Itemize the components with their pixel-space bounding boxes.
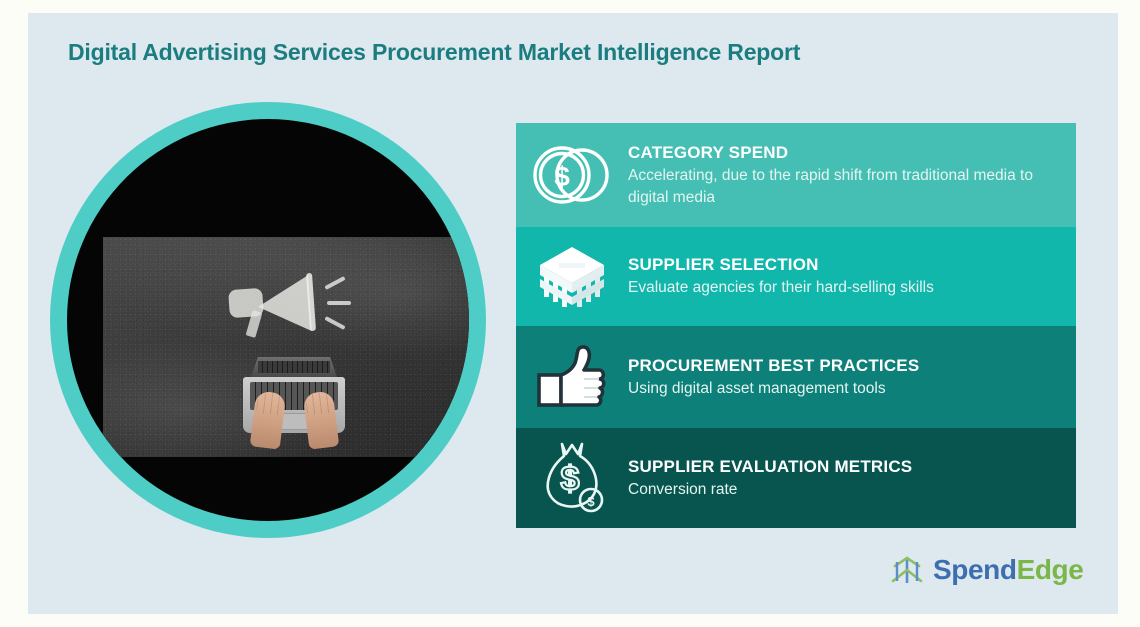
left-hand — [250, 390, 287, 449]
band-description: Accelerating, due to the rapid shift fro… — [628, 165, 1064, 208]
hero-inner-disc — [67, 119, 469, 521]
highlight-row-supplier-evaluation-metrics: $ $ SUPPLIER EVALUATION METRICS Conversi… — [516, 428, 1076, 528]
svg-text:$: $ — [561, 460, 580, 498]
sound-wave-icon — [324, 316, 345, 330]
laptop-screen — [258, 361, 330, 373]
coins-icon: $ — [516, 123, 628, 227]
circular-hero-image — [50, 102, 486, 538]
spendedge-logo: SpendEdge — [890, 554, 1083, 586]
svg-text:$: $ — [587, 494, 595, 509]
band-title: SUPPLIER EVALUATION METRICS — [628, 456, 1064, 477]
band-description: Evaluate agencies for their hard-selling… — [628, 277, 1064, 298]
laptop-megaphone-photo — [103, 237, 469, 457]
band-title: CATEGORY SPEND — [628, 142, 1064, 163]
band-text-block: CATEGORY SPEND Accelerating, due to the … — [628, 142, 1076, 208]
logo-text-edge: Edge — [1017, 554, 1084, 585]
band-text-block: PROCUREMENT BEST PRACTICES Using digital… — [628, 355, 1076, 400]
band-title: SUPPLIER SELECTION — [628, 254, 1064, 275]
band-description: Using digital asset management tools — [628, 378, 1064, 399]
highlight-row-procurement-best-practices: PROCUREMENT BEST PRACTICES Using digital… — [516, 326, 1076, 428]
svg-text:$: $ — [554, 161, 570, 192]
logo-wordmark: SpendEdge — [933, 556, 1083, 584]
sound-wave-icon — [324, 276, 345, 290]
band-title: PROCUREMENT BEST PRACTICES — [628, 355, 1064, 376]
highlight-row-supplier-selection: SUPPLIER SELECTION Evaluate agencies for… — [516, 227, 1076, 326]
tri-arrow-logo-icon — [890, 554, 924, 586]
bank-building-icon — [516, 227, 628, 326]
sound-wave-icon — [327, 301, 351, 305]
highlight-row-category-spend: $ CATEGORY SPEND Accelerating, due to th… — [516, 123, 1076, 227]
megaphone-cone-shape — [256, 275, 312, 334]
band-text-block: SUPPLIER EVALUATION METRICS Conversion r… — [628, 456, 1076, 501]
infographic-canvas: Digital Advertising Services Procurement… — [28, 13, 1118, 614]
thumbs-up-icon — [516, 326, 628, 428]
logo-text-spend: Spend — [933, 554, 1017, 585]
band-description: Conversion rate — [628, 479, 1064, 500]
band-text-block: SUPPLIER SELECTION Evaluate agencies for… — [628, 254, 1076, 299]
money-bag-icon: $ $ — [516, 428, 628, 528]
page-title: Digital Advertising Services Procurement… — [68, 39, 800, 66]
